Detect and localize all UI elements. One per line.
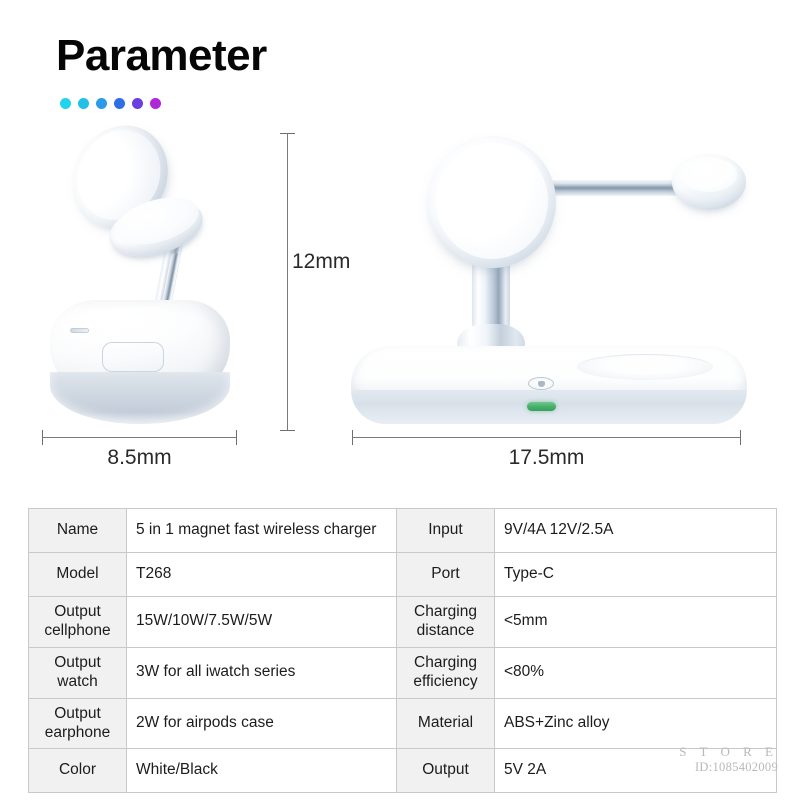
spec-label: Material [397, 698, 495, 749]
accent-dot-4 [114, 98, 125, 109]
accent-dot-1 [60, 98, 71, 109]
spec-value: Type-C [495, 553, 777, 597]
table-row: Output cellphone 15W/10W/7.5W/5W Chargin… [29, 597, 777, 648]
left-width-dimension-cap-right [236, 430, 237, 445]
power-led-indicator [527, 402, 556, 411]
spec-label: Model [29, 553, 127, 597]
spec-value: 15W/10W/7.5W/5W [127, 597, 397, 648]
spec-label: Output [397, 749, 495, 793]
spec-value: <80% [495, 647, 777, 698]
phone-magnet-disc-gloss [448, 154, 506, 198]
spec-value: White/Black [127, 749, 397, 793]
spec-value: T268 [127, 553, 397, 597]
left-base-charging-pad [102, 342, 164, 372]
spec-label: Output watch [29, 647, 127, 698]
table-row: Output watch 3W for all iwatch series Ch… [29, 647, 777, 698]
left-width-dimension-line [42, 437, 236, 438]
specification-table-body: Name 5 in 1 magnet fast wireless charger… [29, 509, 777, 793]
left-base-bottom-rim [50, 372, 230, 424]
table-row: Color White/Black Output 5V 2A [29, 749, 777, 793]
product-image-left-angled-view [40, 120, 250, 440]
accent-dot-2 [78, 98, 89, 109]
left-base-indicator-icon [70, 328, 89, 333]
table-row: Model T268 Port Type-C [29, 553, 777, 597]
height-dimension-cap-bottom [280, 430, 295, 431]
spec-value: ABS+Zinc alloy [495, 698, 777, 749]
accent-dot-row [60, 98, 161, 109]
product-image-right-front-view [345, 128, 755, 438]
spec-label: Input [397, 509, 495, 553]
spec-value: <5mm [495, 597, 777, 648]
spec-label: Output earphone [29, 698, 127, 749]
spec-label: Port [397, 553, 495, 597]
spec-value: 5 in 1 magnet fast wireless charger [127, 509, 397, 553]
product-parameter-page: Parameter [0, 0, 800, 800]
height-dimension-line [287, 133, 288, 430]
left-width-dimension-label: 8.5mm [42, 446, 237, 470]
wireless-charging-icon [528, 377, 554, 390]
accent-dot-5 [132, 98, 143, 109]
table-row: Output earphone 2W for airpods case Mate… [29, 698, 777, 749]
right-base-earphone-pad [577, 354, 713, 380]
spec-value: 3W for all iwatch series [127, 647, 397, 698]
specification-table: Name 5 in 1 magnet fast wireless charger… [28, 508, 777, 793]
spec-label: Color [29, 749, 127, 793]
spec-label: Name [29, 509, 127, 553]
right-width-dimension-line [352, 437, 740, 438]
spec-label: Charging distance [397, 597, 495, 648]
right-width-dimension-label: 17.5mm [352, 446, 741, 470]
height-dimension-label: 12mm [292, 250, 350, 274]
spec-value: 5V 2A [495, 749, 777, 793]
table-row: Name 5 in 1 magnet fast wireless charger… [29, 509, 777, 553]
accent-dot-3 [96, 98, 107, 109]
spec-label: Output cellphone [29, 597, 127, 648]
page-title: Parameter [56, 34, 267, 78]
spec-label: Charging efficiency [397, 647, 495, 698]
watch-charging-puck-face [681, 158, 737, 192]
accent-dot-6 [150, 98, 161, 109]
watch-support-arm [541, 180, 691, 196]
spec-value: 2W for airpods case [127, 698, 397, 749]
right-width-dimension-cap-right [740, 430, 741, 445]
spec-value: 9V/4A 12V/2.5A [495, 509, 777, 553]
product-illustration-area [0, 120, 800, 490]
